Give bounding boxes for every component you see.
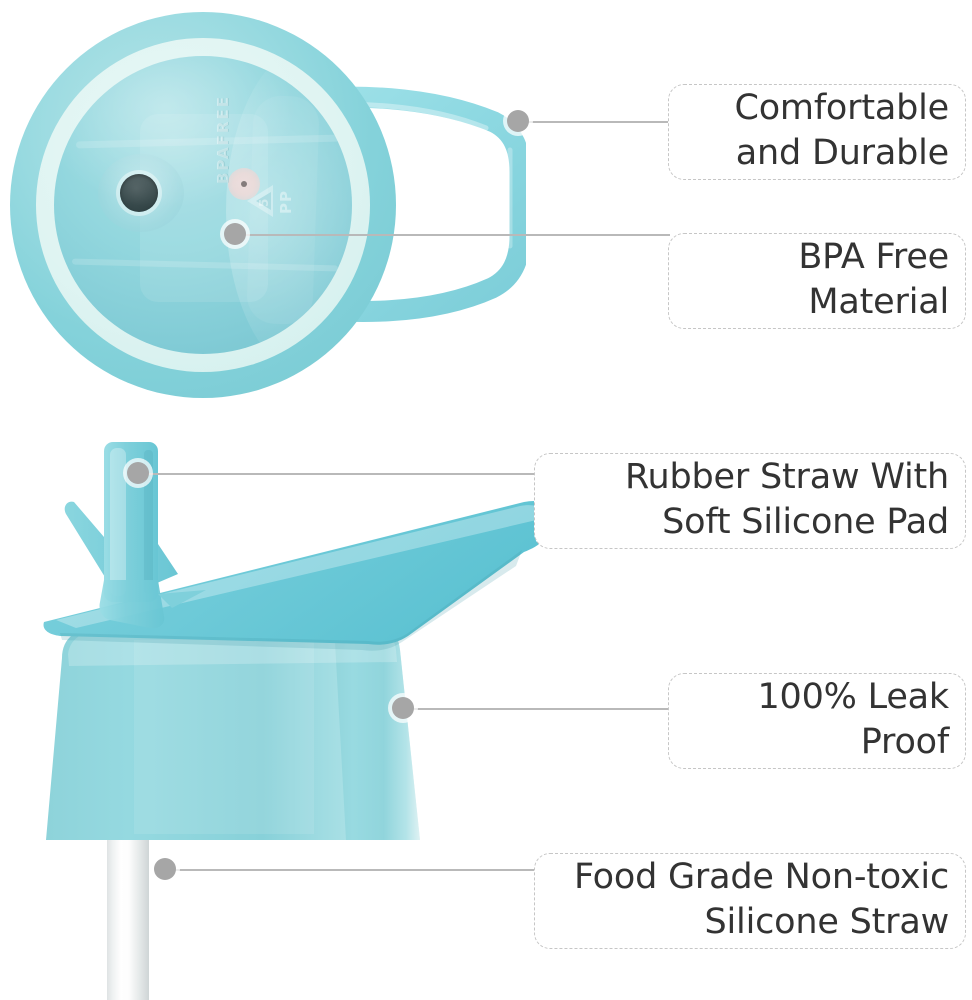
lid-top-view: BPAFREE 5 PP xyxy=(10,12,396,398)
callout-line: Comfortable xyxy=(734,86,949,131)
callout-bpa-free-material: BPA Free Material xyxy=(668,233,966,329)
leader-line-silicone-straw xyxy=(165,869,536,871)
callout-line: 100% Leak xyxy=(757,675,949,720)
callout-leak-proof: 100% Leak Proof xyxy=(668,673,966,769)
callout-comfortable-and-durable: Comfortable and Durable xyxy=(668,84,966,180)
leader-line-comfortable xyxy=(518,121,670,123)
lid-side-shape xyxy=(16,440,596,1000)
lid-top-face: BPAFREE 5 PP xyxy=(54,56,352,354)
callout-line: and Durable xyxy=(736,131,949,176)
callout-line: Food Grade Non-toxic xyxy=(574,855,949,900)
callout-line: Rubber Straw With xyxy=(625,455,949,500)
marker-dot-lid-seal-edge xyxy=(392,697,414,719)
marker-dot-flip-spout-tab xyxy=(127,462,149,484)
callout-line: Silicone Straw xyxy=(705,900,950,945)
callout-food-grade-silicone-straw: Food Grade Non-toxic Silicone Straw xyxy=(534,853,966,949)
marker-dot-handle-grip xyxy=(507,110,529,132)
callout-line: Material xyxy=(808,280,949,325)
leader-line-bpa-free xyxy=(234,234,670,236)
callout-line: Soft Silicone Pad xyxy=(662,500,949,545)
lid-side-view xyxy=(16,440,596,1000)
callout-line: BPA Free xyxy=(798,235,949,280)
marker-dot-lid-top-surface xyxy=(224,223,246,245)
infographic-canvas: BPAFREE 5 PP xyxy=(0,0,972,1000)
callout-line: Proof xyxy=(861,720,949,765)
leader-line-leak-proof xyxy=(404,708,670,710)
marker-dot-straw-tube xyxy=(154,858,176,880)
leader-line-rubber-straw xyxy=(138,473,536,475)
callout-rubber-straw-soft-silicone-pad: Rubber Straw With Soft Silicone Pad xyxy=(534,453,966,549)
